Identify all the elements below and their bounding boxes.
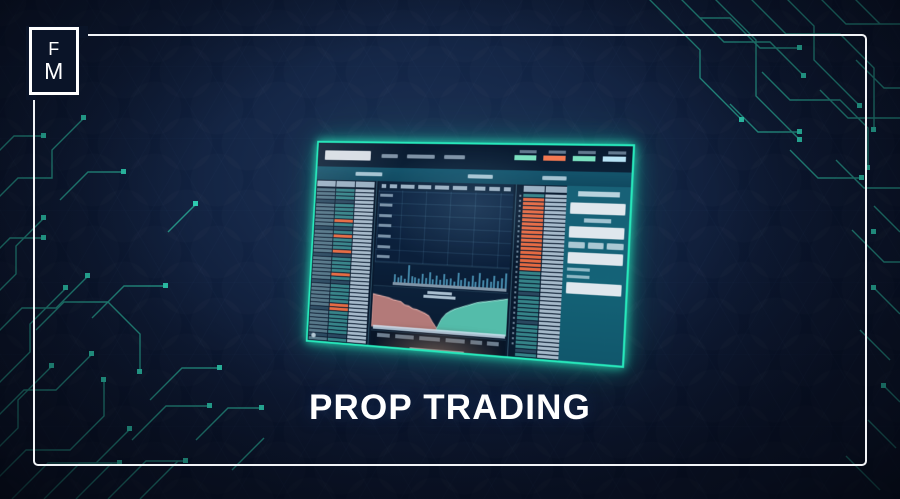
ticker-item (543, 150, 566, 161)
ticker-item (573, 151, 596, 162)
side-panel-field-2[interactable] (569, 226, 625, 240)
ticker-item (603, 151, 627, 162)
side-panel-button-2[interactable] (588, 242, 605, 249)
side-panel-note-1 (567, 267, 590, 271)
volume-bar (407, 265, 410, 283)
side-panel-button-1[interactable] (568, 242, 584, 249)
side-panel-field-1[interactable] (570, 202, 626, 215)
terminal-logo (325, 150, 371, 160)
fm-logo-letter-f: F (48, 40, 60, 58)
order-book-row (317, 192, 335, 195)
order-book-row (317, 188, 335, 191)
volume-bar (428, 272, 431, 284)
volume-bar (450, 278, 452, 286)
order-book-row (545, 203, 566, 207)
volume-bar (493, 275, 496, 288)
order-book-row (355, 193, 374, 196)
volume-bar (500, 278, 502, 288)
candlestick-plot (394, 192, 512, 266)
volume-bar (457, 272, 460, 286)
order-book-row (336, 192, 355, 195)
subbar-tag[interactable] (468, 174, 493, 179)
fm-logo-letter-m: M (44, 60, 64, 83)
volume-bar (464, 278, 466, 287)
side-panel-note-2 (567, 275, 590, 279)
order-book-row (523, 202, 544, 206)
price-ticker-strip (514, 150, 626, 162)
chart-area (370, 181, 514, 356)
order-book-row (515, 353, 536, 358)
order-book-row (537, 355, 558, 360)
volume-bar (442, 274, 444, 285)
volume-bar (421, 274, 423, 284)
order-book-row (523, 198, 544, 202)
volume-bar (486, 278, 488, 287)
volume-bar (478, 272, 481, 287)
side-panel-label-1 (583, 218, 610, 223)
volume-bar (504, 273, 507, 289)
menu-item-2[interactable] (407, 154, 435, 158)
fm-logo: F M (29, 27, 79, 95)
volume-bar (471, 275, 474, 287)
order-book-row (355, 189, 374, 192)
side-panel-field-3[interactable] (568, 252, 624, 266)
trading-screen-container (296, 142, 628, 358)
side-panel-title (578, 191, 620, 197)
terminal-menubar (381, 154, 465, 159)
side-panel-field-4[interactable] (566, 282, 622, 297)
menu-item-3[interactable] (444, 155, 465, 159)
order-book-row (328, 338, 347, 342)
volume-bar (497, 281, 499, 289)
volume-bar (435, 276, 437, 285)
image-canvas: F M (0, 0, 900, 499)
left-order-book[interactable] (308, 180, 375, 345)
order-book-row (523, 206, 544, 210)
volume-bar (411, 276, 413, 283)
menu-item-1[interactable] (381, 154, 398, 158)
subbar-tag[interactable] (355, 172, 382, 176)
order-book-row (545, 198, 566, 202)
order-book-row (336, 189, 355, 192)
order-book-row (545, 194, 566, 198)
page-title: PROP TRADING (0, 388, 900, 428)
trade-entry-side-panel[interactable] (558, 186, 630, 366)
side-panel-button-3[interactable] (607, 243, 624, 250)
subbar-tag[interactable] (542, 176, 567, 181)
order-book-row (347, 339, 366, 343)
volume-bar (394, 274, 396, 282)
ticker-item (514, 150, 536, 160)
trading-terminal-screen (306, 141, 635, 368)
order-book-row (523, 194, 544, 198)
side-panel-button-row[interactable] (568, 242, 623, 251)
candlestick-chart[interactable] (375, 190, 514, 269)
